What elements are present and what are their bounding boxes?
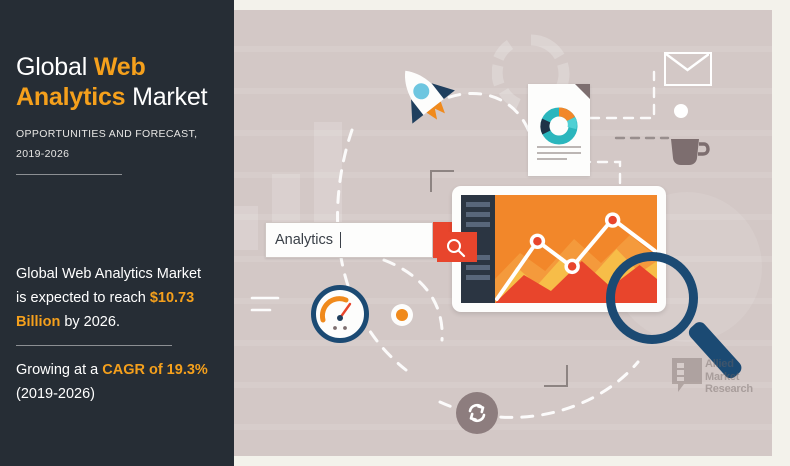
envelope-icon [664, 52, 712, 86]
market-value-statement: Global Web Analytics Marketis expected t… [16, 262, 228, 334]
cagr-statement: Growing at a CAGR of 19.3%(2019-2026) [16, 358, 228, 406]
subtitle: OPPORTUNITIES AND FORECAST,2019-2026 [16, 124, 226, 164]
document-line-1 [537, 146, 581, 148]
white-node-envelope [674, 104, 688, 118]
infographic-root: Global WebAnalytics Market OPPORTUNITIES… [0, 0, 790, 466]
text-cursor [340, 232, 341, 248]
sidebar-line-1 [466, 202, 490, 207]
title-word-analytics: Analytics [16, 83, 125, 111]
watermark-line-3: Research [705, 383, 753, 396]
watermark: Allied Market Research [672, 358, 753, 396]
document-fold-corner [575, 84, 590, 99]
donut-chart-icon [539, 106, 579, 146]
node-dot [396, 309, 408, 321]
refresh-arrows-icon [465, 401, 489, 425]
stat-value: $10.73 [150, 290, 194, 306]
divider-top [16, 174, 122, 175]
subtitle-line-2: 2019-2026 [16, 148, 69, 160]
title-word-market: Market [125, 83, 207, 111]
sidebar-line-6 [466, 275, 490, 280]
watermark-line-1: Allied [705, 358, 753, 371]
stat-line-2-pre: is expected to reach [16, 290, 150, 306]
coffee-cup-icon [668, 136, 712, 168]
speedometer-gauge-icon [311, 285, 369, 343]
sidebar-line-3 [466, 222, 490, 227]
search-input[interactable]: Analytics [265, 222, 433, 258]
cagr-period: (2019-2026) [16, 386, 95, 402]
document-text-lines [537, 146, 581, 164]
watermark-line-2: Market [705, 371, 753, 384]
title-word-web: Web [94, 53, 146, 81]
sidebar-line-5 [466, 265, 490, 270]
watermark-text: Allied Market Research [705, 358, 753, 396]
magnifying-glass-icon [606, 252, 698, 344]
left-text-panel: Global WebAnalytics Market OPPORTUNITIES… [0, 0, 234, 466]
gauge-dial-icon [316, 290, 364, 338]
orange-node-gauge [391, 304, 413, 326]
title-word-global: Global [16, 53, 94, 81]
envelope-flap-icon [666, 54, 709, 83]
rocket-icon [386, 60, 464, 132]
cagr-value: CAGR of 19.3% [102, 362, 208, 378]
cagr-line-1-pre: Growing at a [16, 362, 102, 378]
page-title: Global WebAnalytics Market [16, 52, 226, 112]
divider-middle [16, 345, 172, 346]
search-input-value: Analytics [275, 232, 333, 248]
market-value-text: Global Web Analytics Marketis expected t… [16, 262, 228, 334]
cagr-text: Growing at a CAGR of 19.3%(2019-2026) [16, 358, 228, 406]
stat-line-3-post: by 2026. [60, 314, 120, 330]
document-line-3 [537, 158, 567, 160]
subtitle-line-1: OPPORTUNITIES AND FORECAST, [16, 128, 197, 140]
stat-line-1: Global Web Analytics Market [16, 266, 201, 282]
allied-market-research-logo-icon [672, 358, 702, 394]
stat-unit: Billion [16, 314, 60, 330]
document-donut-chart-icon [528, 84, 590, 176]
illustration-panel: Analytics [234, 10, 772, 456]
search-tag-icon [437, 232, 477, 262]
refresh-sync-icon[interactable] [456, 392, 498, 434]
sidebar-line-2 [466, 212, 490, 217]
document-line-2 [537, 152, 581, 154]
title-block: Global WebAnalytics Market OPPORTUNITIES… [16, 52, 226, 164]
